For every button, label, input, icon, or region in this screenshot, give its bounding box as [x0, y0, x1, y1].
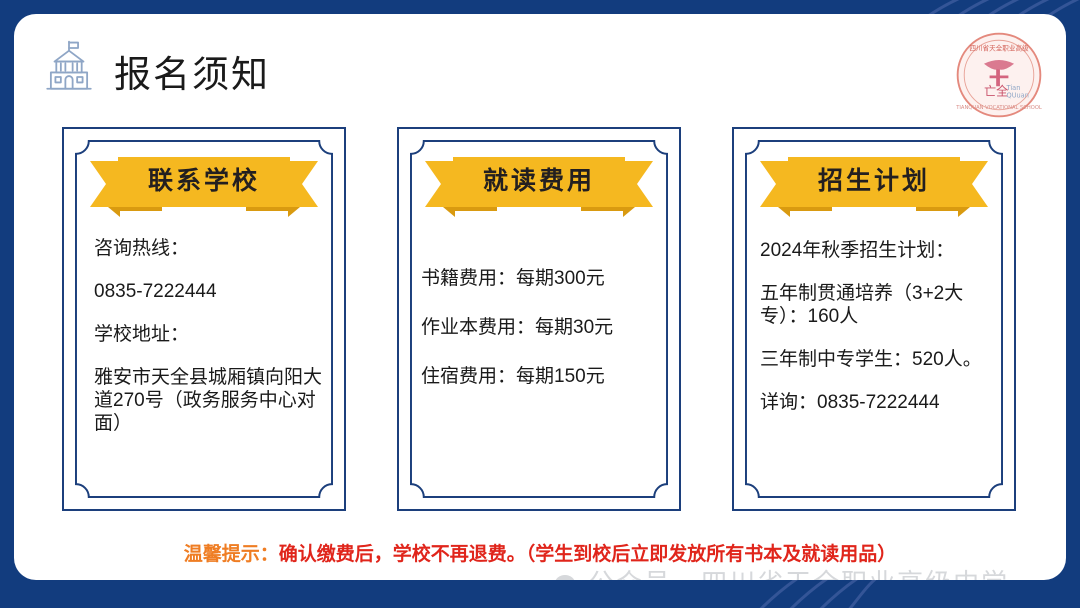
card-text-line: 五年制贯通培养（3+2大专）：160人: [760, 282, 998, 328]
card-text-line: 书籍费用：每期300元: [421, 267, 665, 290]
note-text: 确认缴费后，学校不再退费。（学生到校后立即发放所有书本及就读用品）: [279, 544, 897, 565]
card-text-line: 雅安市天全县城厢镇向阳大道270号（政务服务中心对面）: [94, 366, 322, 435]
note-label: 温馨提示：: [184, 544, 279, 565]
info-card-contact: 联系学校 咨询热线： 0835-7222444 学校地址： 雅安市天全县城厢镇向…: [62, 127, 346, 511]
card-body-contact: 咨询热线： 0835-7222444 学校地址： 雅安市天全县城厢镇向阳大道27…: [94, 237, 322, 435]
card-ribbon-banner: 联系学校: [90, 155, 318, 221]
card-text-line: 住宿费用：每期150元: [421, 365, 665, 388]
svg-text:QUuan: QUuan: [1007, 92, 1029, 100]
card-ribbon-label: 联系学校: [90, 155, 318, 207]
card-text-line: 详询：0835-7222444: [760, 391, 998, 414]
school-building-icon: [40, 38, 98, 96]
card-text-line: 2024年秋季招生计划：: [760, 239, 998, 262]
page-header: 报名须知 四川省天全职业高级 TIANQUAN VOCATIONAL SCHOO…: [14, 14, 1066, 118]
card-ribbon-label: 招生计划: [760, 155, 988, 207]
card-ribbon-banner: 就读费用: [425, 155, 653, 221]
card-ribbon-label: 就读费用: [425, 155, 653, 207]
card-ribbon-banner: 招生计划: [760, 155, 988, 221]
card-text-line: 作业本费用：每期30元: [421, 316, 665, 339]
svg-text:TIANQUAN VOCATIONAL SCHOOL: TIANQUAN VOCATIONAL SCHOOL: [955, 105, 1042, 111]
svg-text:亡全: 亡全: [984, 84, 1008, 99]
svg-text:四川省天全职业高级: 四川省天全职业高级: [969, 44, 1029, 53]
page-title: 报名须知: [114, 52, 270, 98]
content-panel: 报名须知 四川省天全职业高级 TIANQUAN VOCATIONAL SCHOO…: [14, 14, 1066, 580]
school-seal-logo: 四川省天全职业高级 TIANQUAN VOCATIONAL SCHOOL 亡全 …: [952, 28, 1046, 122]
info-card-fees: 就读费用 书籍费用：每期300元 作业本费用：每期30元 住宿费用：每期150元: [397, 127, 681, 511]
card-text-line: 咨询热线：: [94, 237, 322, 260]
card-text-line: 0835-7222444: [94, 280, 322, 303]
card-text-line: 学校地址：: [94, 323, 322, 346]
card-text-line: 三年制中专学生：520人。: [760, 348, 998, 371]
info-cards-row: 联系学校 咨询热线： 0835-7222444 学校地址： 雅安市天全县城厢镇向…: [14, 127, 1066, 517]
card-body-enrollment: 2024年秋季招生计划： 五年制贯通培养（3+2大专）：160人 三年制中专学生…: [760, 239, 998, 414]
info-card-enrollment: 招生计划 2024年秋季招生计划： 五年制贯通培养（3+2大专）：160人 三年…: [732, 127, 1016, 511]
speech-bubble-icon: [554, 571, 580, 581]
card-body-fees: 书籍费用：每期300元 作业本费用：每期30元 住宿费用：每期150元: [421, 267, 665, 414]
footer-note: 温馨提示：确认缴费后，学校不再退费。（学生到校后立即发放所有书本及就读用品）: [14, 542, 1066, 568]
slide-canvas: 报名须知 四川省天全职业高级 TIANQUAN VOCATIONAL SCHOO…: [0, 0, 1080, 608]
